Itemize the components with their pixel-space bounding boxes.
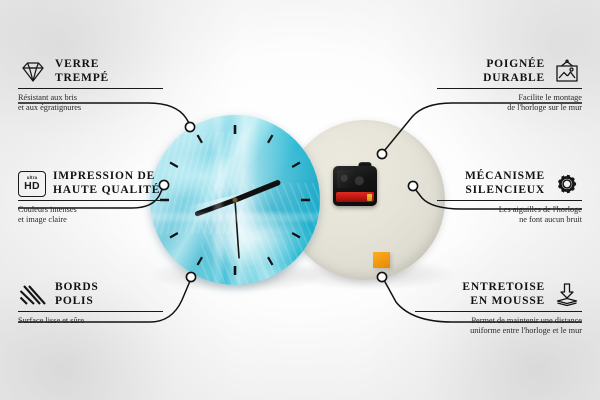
feature-impression-haute-qualite: ultra HD IMPRESSION DE HAUTE QUALITÉ Cou… (18, 170, 163, 226)
feature-title: MÉCANISME SILENCIEUX (465, 170, 545, 197)
ultra-hd-badge-icon: ultra HD (18, 171, 46, 197)
feature-rule (437, 200, 582, 201)
feature-title-line2: TREMPÉ (55, 72, 109, 86)
feature-description: Facilite le montage de l'horloge sur le … (437, 93, 582, 114)
connector-dot-verre-trempe (185, 122, 194, 131)
feature-title: ENTRETOISE EN MOUSSE (462, 281, 545, 308)
feature-title-line1: MÉCANISME (465, 170, 545, 184)
feature-rule (437, 88, 582, 89)
feature-title-line1: BORDS (55, 281, 99, 295)
connector-dot-mecanisme (408, 181, 417, 190)
feature-title-line1: VERRE (55, 58, 109, 72)
feature-mecanisme-silencieux: MÉCANISME SILENCIEUX Les aiguilles de l'… (437, 170, 582, 226)
feature-header: VERRE TREMPÉ (18, 58, 163, 85)
feature-description: Surface lisse et sûre (18, 316, 163, 326)
feature-desc-line2: ne font aucun bruit (437, 215, 582, 225)
feature-desc-line1: Permet de maintenir une distance (415, 316, 582, 326)
feature-desc-line2: et aux égratignures (18, 103, 163, 113)
feature-desc-line2: de l'horloge sur le mur (437, 103, 582, 113)
picture-frame-hanger-icon (552, 59, 582, 85)
connector-dot-poignee-durable (377, 149, 386, 158)
feature-title-line2: POLIS (55, 295, 99, 309)
feature-header: ENTRETOISE EN MOUSSE (415, 281, 582, 308)
feature-desc-line1: Surface lisse et sûre (18, 316, 163, 326)
gear-icon (552, 171, 582, 197)
arrow-down-layers-icon (552, 282, 582, 308)
feature-title: POIGNÉE DURABLE (483, 58, 545, 85)
feature-desc-line1: Les aiguilles de l'horloge (437, 205, 582, 215)
feature-description: Permet de maintenir une distance uniform… (415, 316, 582, 337)
diagonal-lines-icon (18, 282, 48, 308)
feature-desc-line2: uniforme entre l'horloge et le mur (415, 326, 582, 336)
connector-dot-entretoise (377, 272, 386, 281)
feature-title-line2: DURABLE (483, 72, 545, 86)
feature-description: Les aiguilles de l'horloge ne font aucun… (437, 205, 582, 226)
feature-rule (18, 311, 163, 312)
feature-title: IMPRESSION DE HAUTE QUALITÉ (53, 170, 160, 197)
feature-poignee-durable: POIGNÉE DURABLE Facilite le montage de l… (437, 58, 582, 114)
feature-title-line2: EN MOUSSE (462, 295, 545, 309)
feature-title: BORDS POLIS (55, 281, 99, 308)
infographic-canvas: VERRE TREMPÉ Résistant aux bris et aux é… (0, 0, 600, 400)
ultra-hd-badge-main-text: HD (24, 181, 40, 192)
diamond-icon (18, 59, 48, 85)
connector-dot-bords-polis (186, 272, 195, 281)
feature-desc-line2: et image claire (18, 215, 163, 225)
feature-title: VERRE TREMPÉ (55, 58, 109, 85)
feature-title-line2: SILENCIEUX (465, 184, 545, 198)
feature-header: MÉCANISME SILENCIEUX (437, 170, 582, 197)
feature-verre-trempe: VERRE TREMPÉ Résistant aux bris et aux é… (18, 58, 163, 114)
feature-desc-line1: Couleurs intenses (18, 205, 163, 215)
feature-header: POIGNÉE DURABLE (437, 58, 582, 85)
feature-title-line1: POIGNÉE (483, 58, 545, 72)
feature-desc-line1: Facilite le montage (437, 93, 582, 103)
feature-description: Couleurs intenses et image claire (18, 205, 163, 226)
feature-bords-polis: BORDS POLIS Surface lisse et sûre (18, 281, 163, 326)
feature-header: ultra HD IMPRESSION DE HAUTE QUALITÉ (18, 170, 163, 197)
feature-desc-line1: Résistant aux bris (18, 93, 163, 103)
feature-entretoise-en-mousse: ENTRETOISE EN MOUSSE Permet de maintenir… (415, 281, 582, 337)
feature-title-line2: HAUTE QUALITÉ (53, 184, 160, 198)
feature-rule (415, 311, 582, 312)
feature-title-line1: ENTRETOISE (462, 281, 545, 295)
feature-rule (18, 200, 163, 201)
feature-description: Résistant aux bris et aux égratignures (18, 93, 163, 114)
feature-rule (18, 88, 163, 89)
feature-header: BORDS POLIS (18, 281, 163, 308)
feature-title-line1: IMPRESSION DE (53, 170, 160, 184)
